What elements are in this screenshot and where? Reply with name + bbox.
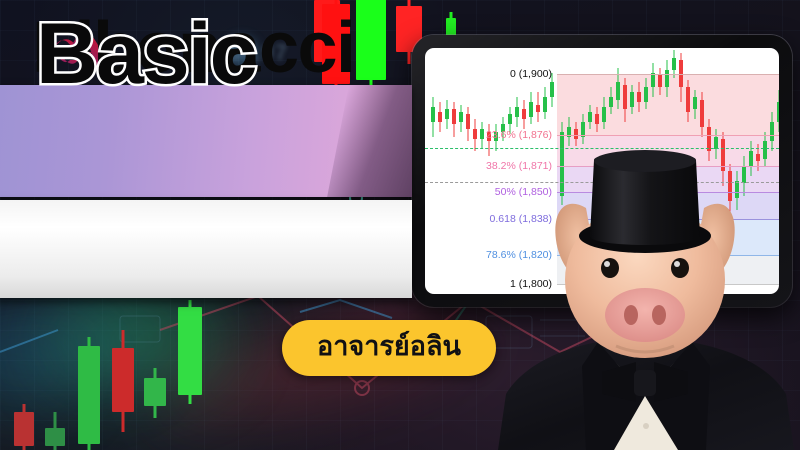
snout: [605, 288, 685, 342]
price-candle: [777, 90, 779, 132]
eye-left: [601, 258, 619, 278]
candle-body: [112, 348, 134, 412]
candle-body: [602, 107, 606, 122]
candle-body: [480, 129, 484, 139]
pig-in-top-hat-character: [490, 150, 800, 450]
price-candle: [665, 60, 669, 97]
price-candle: [651, 63, 655, 97]
candle-body: [473, 129, 477, 139]
candle-body: [595, 114, 599, 124]
price-candle: [522, 100, 526, 130]
bg-candle-10: [144, 368, 166, 418]
instructor-badge[interactable]: อาจารย์อลิน: [282, 320, 496, 376]
bg-candle-9: [112, 330, 134, 432]
candle-body: [459, 112, 463, 122]
price-candle: [679, 53, 683, 102]
candle-body: [445, 109, 449, 119]
candle-body: [686, 87, 690, 112]
price-candle: [480, 122, 484, 149]
price-candle: [581, 114, 585, 144]
candle-body: [78, 346, 100, 444]
candle-body: [672, 58, 676, 70]
price-candle: [567, 117, 571, 147]
eye-right: [671, 258, 689, 278]
price-candle: [466, 107, 470, 141]
candle-body: [508, 114, 512, 124]
candle-body: [14, 412, 34, 446]
candle-body: [178, 307, 202, 395]
price-candle: [630, 85, 634, 115]
candle-body: [574, 129, 578, 139]
candle-body: [144, 378, 166, 406]
price-candle: [770, 112, 774, 151]
price-candle: [473, 119, 477, 151]
candle-body: [515, 107, 519, 117]
candle-body: [630, 92, 634, 107]
price-candle: [574, 122, 578, 147]
price-candle: [452, 102, 456, 136]
candle-body: [616, 82, 620, 99]
price-candle: [431, 97, 435, 136]
title-banner-secondary: [0, 200, 412, 298]
price-candle: [686, 80, 690, 122]
candle-body: [693, 97, 697, 109]
page-title-line1: Basic: [36, 11, 256, 97]
thumbnail-canvas: 54.97 0 (1,900)23.6% (1,876)38.2% (1,871…: [0, 0, 800, 450]
candle-body: [550, 82, 554, 97]
candle-body: [609, 97, 613, 107]
price-candle: [623, 78, 627, 122]
bg-candle-6: [14, 404, 34, 450]
nostril-right: [652, 305, 666, 325]
candle-body: [45, 428, 65, 446]
fib-level-line: [557, 74, 779, 75]
shirt-button: [643, 423, 649, 429]
candle-body: [623, 85, 627, 110]
top-hat: [579, 150, 711, 253]
candle-body: [637, 92, 641, 102]
candle-body: [536, 105, 540, 112]
price-candle: [609, 87, 613, 114]
price-candle: [588, 105, 592, 130]
price-candle: [445, 100, 449, 130]
candle-body: [770, 122, 774, 142]
candle-body: [581, 122, 585, 137]
price-candle: [693, 90, 697, 120]
price-candle: [529, 92, 533, 124]
candle-body: [529, 102, 533, 117]
eye-highlight-left: [604, 261, 610, 267]
price-candle: [438, 102, 442, 132]
bg-candle-8: [78, 337, 100, 450]
price-candle: [459, 105, 463, 132]
price-candle: [644, 78, 648, 110]
candle-body: [700, 100, 704, 127]
bg-candle-7: [45, 412, 65, 450]
candle-body: [466, 114, 470, 129]
candle-body: [431, 107, 435, 122]
banner-sheen: [327, 85, 412, 197]
bg-candle-11: [178, 300, 202, 404]
instructor-badge-label: อาจารย์อลิน: [317, 333, 461, 363]
eye-highlight-right: [674, 261, 680, 267]
green-dashed-retrace: [425, 148, 779, 149]
price-candle: [536, 92, 540, 122]
candle-body: [644, 87, 648, 102]
candle-body: [356, 0, 386, 80]
candle-body: [543, 97, 547, 112]
price-candle: [700, 92, 704, 136]
candle-body: [522, 109, 526, 119]
price-candle: [543, 87, 547, 119]
price-candle: [658, 68, 662, 95]
candle-body: [452, 109, 456, 124]
price-candle: [637, 82, 641, 112]
candle-body: [588, 112, 592, 122]
fib-level-line: [557, 135, 779, 136]
price-candle: [602, 97, 606, 129]
fib-level-label: 23.6% (1,876): [486, 129, 557, 141]
candle-body: [438, 112, 442, 122]
candle-body: [658, 75, 662, 87]
candle-body: [777, 102, 779, 122]
fib-level-label: 0 (1,900): [510, 68, 557, 80]
bg-candle-3: [356, 0, 386, 98]
price-candle: [515, 97, 519, 127]
candle-body: [665, 70, 669, 87]
nostril-left: [624, 305, 638, 325]
price-candle: [595, 107, 599, 132]
